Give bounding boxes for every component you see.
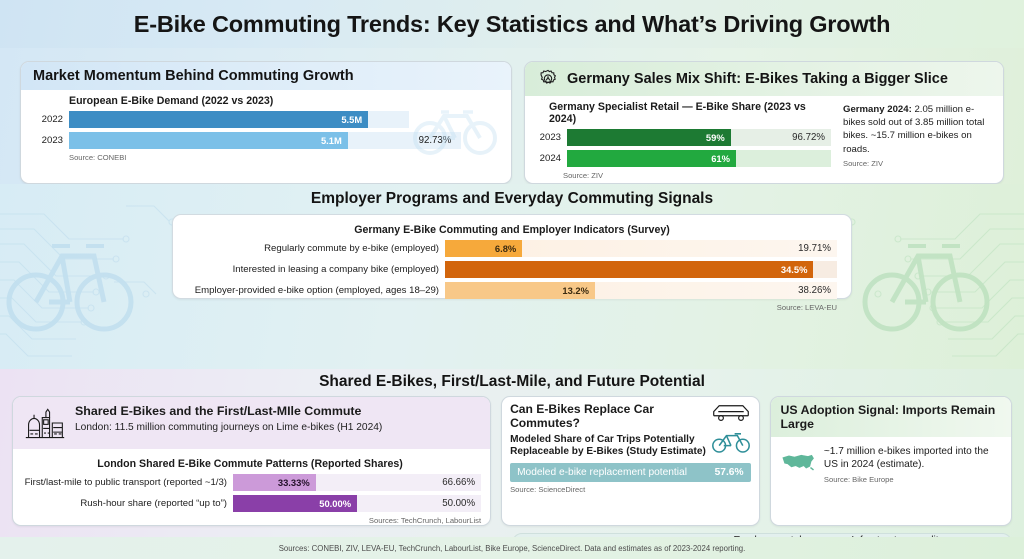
panel-market-header: Market Momentum Behind Commuting Growth (21, 62, 511, 90)
germany-note-lead: Germany 2024: (843, 104, 912, 115)
car-bike-icons (711, 403, 751, 454)
source-ziv-note: Source: ZIV (843, 159, 993, 168)
bar-track: 33.33% 66.66% (233, 474, 481, 491)
bar-value: 59% (706, 132, 731, 143)
bar-ratio: 50.00% (442, 495, 475, 512)
bar-row: Employer-provided e-bike option (employe… (187, 282, 837, 299)
car-icon (711, 403, 751, 423)
title-band: E-Bike Commuting Trends: Key Statistics … (0, 0, 1024, 48)
bar-fill: 61% (567, 150, 736, 167)
panel-london: Shared E-Bikes and the First/Last-MIle C… (12, 396, 491, 526)
panel-germany-sales-mix: Germany Sales Mix Shift: E-Bikes Taking … (524, 61, 1004, 184)
band-employer-programs: Employer Programs and Everyday Commuting… (0, 184, 1024, 369)
panel-germany-header: Germany Sales Mix Shift: E-Bikes Taking … (525, 62, 1003, 96)
chart-title-london: London Shared E-Bike Commute Patterns (R… (19, 458, 481, 470)
footer-sources: Sources: CONEBI, ZIV, LEVA-EU, TechCrunc… (279, 544, 746, 553)
bar-track: 13.2% 38.26% (445, 282, 837, 299)
source-ziv: Source: ZIV (531, 171, 831, 180)
bar-label: 2022 (29, 114, 69, 125)
panel-car-replacement: Can E-Bikes Replace Car Commutes? Modele… (501, 396, 759, 526)
band-shared-ebikes: Shared E-Bikes, First/Last-Mile, and Fut… (0, 369, 1024, 559)
panel-germany-header-label: Germany Sales Mix Shift: E-Bikes Taking … (567, 71, 948, 87)
bicycle-icon (411, 98, 499, 156)
source-london: Sources: TechCrunch, LabourList (19, 516, 481, 525)
bicycle-icon (711, 430, 751, 454)
bar-row: First/last-mile to public transport (rep… (19, 474, 481, 491)
footer-band: Sources: CONEBI, ZIV, LEVA-EU, TechCrunc… (0, 537, 1024, 559)
bar-fill: 5.1M (69, 132, 348, 149)
page-title: E-Bike Commuting Trends: Key Statistics … (134, 11, 891, 38)
bar-label: Modeled e-bike replacement potential (517, 467, 687, 478)
source-leva-eu: Source: LEVA-EU (187, 303, 837, 312)
bar-value: 5.1M (321, 135, 348, 146)
usa-map-icon (781, 445, 815, 479)
london-skyline-icon (24, 404, 66, 442)
panel-employer-indicators: Germany E-Bike Commuting and Employer In… (172, 214, 852, 299)
bar-label: Employer-provided e-bike option (employe… (187, 285, 445, 296)
bar-value: 33.33% (278, 477, 316, 488)
bar-ratio: 66.66% (442, 474, 475, 491)
bar-fill: 13.2% (445, 282, 595, 299)
bar-row: Modeled e-bike replacement potential 57.… (510, 463, 750, 482)
bar-fill: 59% (567, 129, 731, 146)
bar-row: Regularly commute by e-bike (employed) 6… (187, 240, 837, 257)
bar-label: Regularly commute by e-bike (employed) (187, 243, 445, 254)
panel-market-momentum: Market Momentum Behind Commuting Growth … (20, 61, 512, 184)
panel-market-header-label: Market Momentum Behind Commuting Growth (33, 68, 354, 84)
bar-value: 5.5M (341, 114, 368, 125)
bar-ratio: 96.72% (792, 129, 825, 146)
circuit-bike-watermark-left (0, 184, 194, 369)
gear-bike-icon (537, 68, 559, 90)
panel-us-text: ~1.7 million e-bikes imported into the U… (824, 445, 1001, 472)
bar-value: 6.8% (495, 243, 522, 254)
bar-value: 34.5% (781, 264, 814, 275)
section-heading-shared: Shared E-Bikes, First/Last-Mile, and Fut… (0, 369, 1024, 391)
bar-fill: 5.5M (69, 111, 368, 128)
bar-ratio: 19.71% (798, 240, 831, 257)
bar-row: Rush-hour share (reported “up to”) 50.00… (19, 495, 481, 512)
circuit-bike-watermark-right (830, 184, 1024, 369)
chart-title-employer: Germany E-Bike Commuting and Employer In… (187, 224, 837, 236)
bar-value: 13.2% (562, 285, 595, 296)
chart-title-germany-share: Germany Specialist Retail — E-Bike Share… (531, 101, 831, 125)
bar-ratio: 38.26% (798, 282, 831, 299)
bar-label: First/last-mile to public transport (rep… (19, 477, 233, 488)
bar-label: Rush-hour share (reported “up to”) (19, 498, 233, 509)
panel-us-header: US Adoption Signal: Imports Remain Large (771, 397, 1011, 437)
bar-track: 5.1M (69, 132, 409, 149)
bar-track: 59% 96.72% (567, 129, 831, 146)
section-heading-employer: Employer Programs and Everyday Commuting… (0, 184, 1024, 208)
bar-value: 61% (711, 153, 736, 164)
bar-value: 50.00% (319, 498, 357, 509)
bar-label: Interested in leasing a company bike (em… (187, 264, 445, 275)
panel-london-title: Shared E-Bikes and the First/Last-MIle C… (75, 404, 382, 418)
panel-us-imports: US Adoption Signal: Imports Remain Large… (770, 396, 1012, 526)
bar-row: 2023 59% 96.72% (531, 129, 831, 146)
germany-note: Germany 2024: 2.05 million e-bikes sold … (831, 96, 993, 180)
bar-fill: 34.5% (445, 261, 813, 278)
bar-fill: 33.33% (233, 474, 316, 491)
bar-row: 2024 61% (531, 150, 831, 167)
source-sciencedirect: Source: ScienceDirect (510, 485, 750, 494)
bar-track: 34.5% (445, 261, 837, 278)
bar-label: 2024 (531, 153, 567, 164)
bar-value: 57.6% (715, 467, 744, 478)
bar-track: 61% (567, 150, 831, 167)
bar-fill: 50.00% (233, 495, 357, 512)
band3-row: Shared E-Bikes and the First/Last-MIle C… (0, 391, 1024, 526)
bar-row: Interested in leasing a company bike (em… (187, 261, 837, 278)
panel-london-header: Shared E-Bikes and the First/Last-MIle C… (13, 397, 490, 449)
bar-track: 6.8% 19.71% (445, 240, 837, 257)
band-market-momentum: Market Momentum Behind Commuting Growth … (0, 48, 1024, 184)
bar-fill: 6.8% (445, 240, 522, 257)
bar-track: 50.00% 50.00% (233, 495, 481, 512)
bar-track: 5.5M (69, 111, 409, 128)
infographic-page: E-Bike Commuting Trends: Key Statistics … (0, 0, 1024, 559)
panel-london-subtitle: London: 11.5 million commuting journeys … (75, 422, 382, 433)
bar-label: 2023 (531, 132, 567, 143)
bar-label: 2023 (29, 135, 69, 146)
source-bike-europe: Source: Bike Europe (824, 475, 1001, 484)
